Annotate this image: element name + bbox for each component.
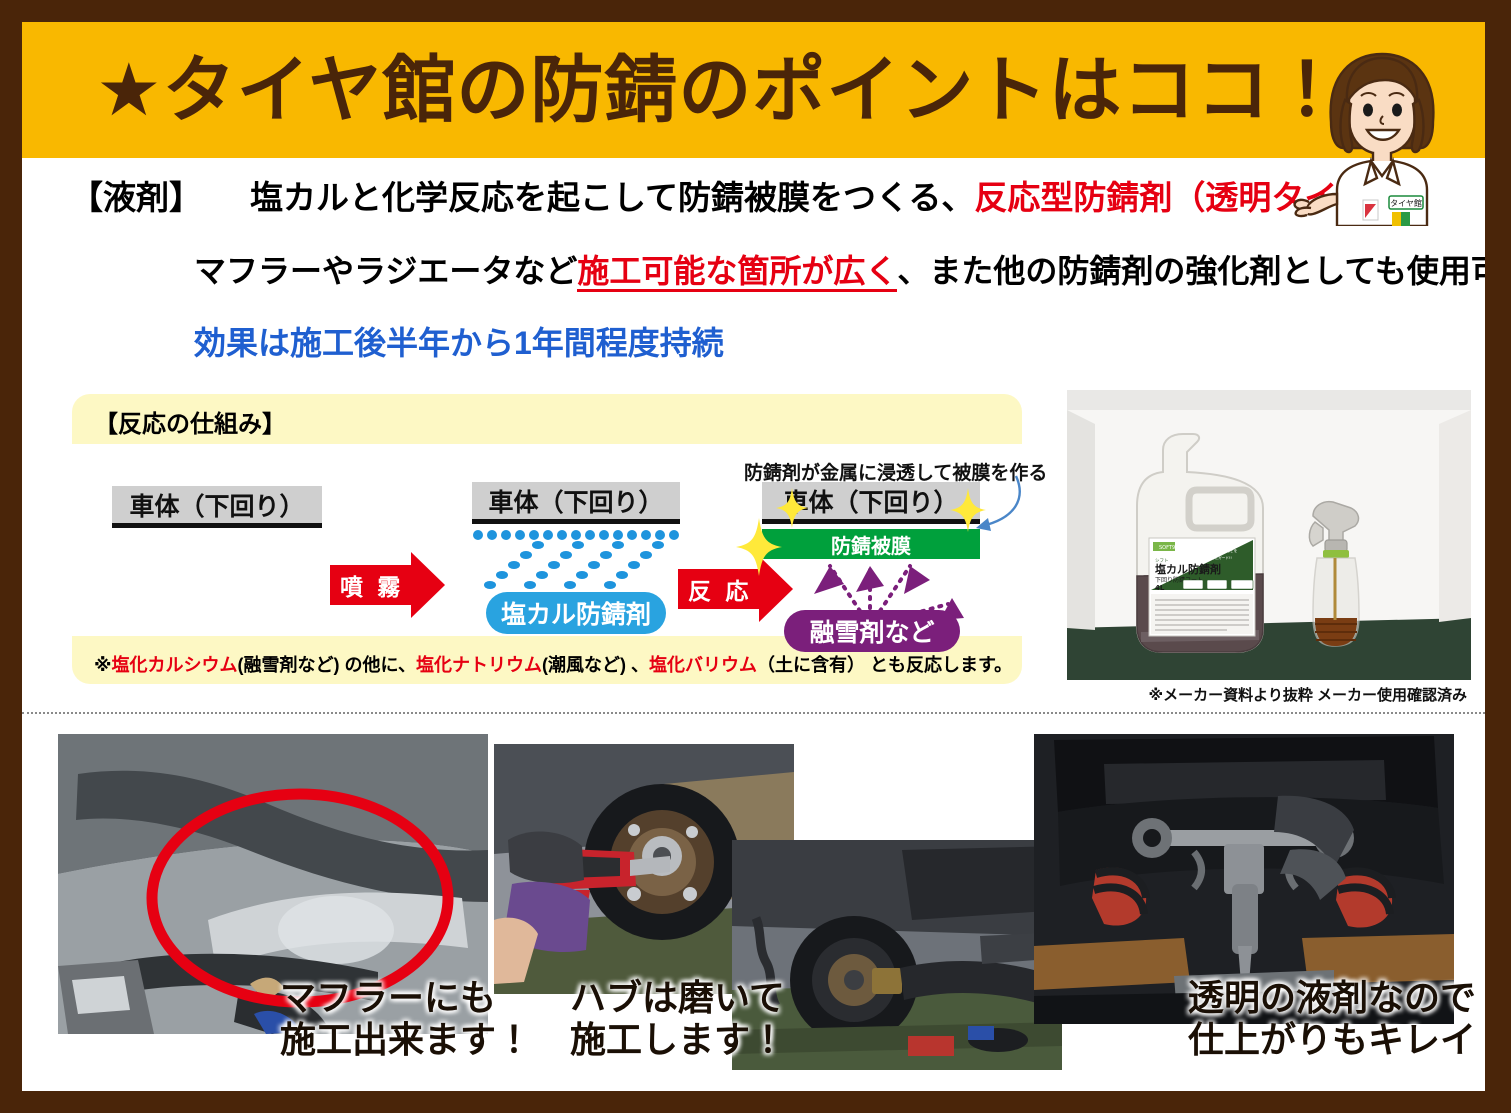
- work-photo-gallery: マフラーにも 施工出来ます！ ハブは磨いて 施工します！ 透明の液剤なので 仕上…: [22, 722, 1485, 1091]
- footnote-chem-1: 塩化カルシウム: [112, 655, 238, 675]
- spray-arrow-head-icon: [411, 552, 445, 618]
- footnote-suffix: （土に含有） とも反応します。: [757, 655, 1012, 675]
- caption-line-1: ハブは磨いて: [570, 978, 786, 1020]
- penetration-caption: 防錆剤が金属に浸透して被膜を作る: [744, 458, 1047, 485]
- copy-line-1-black: 塩カルと化学反応を起こして防錆被膜をつくる、: [250, 179, 974, 216]
- copy-line-3: 効果は施工後半年から1年間程度持続: [194, 326, 724, 361]
- caption-line-1: 透明の液剤なので: [1188, 978, 1485, 1020]
- mechanism-footnote: ※塩化カルシウム(融雪剤など) の他に、塩化ナトリウム(潮風など) 、塩化バリウ…: [94, 651, 1012, 677]
- page-title: ★タイヤ館の防錆のポイントはココ！★: [96, 54, 1411, 127]
- photo-caption-finish: 透明の液剤なので 仕上がりもキレイ！: [1188, 978, 1485, 1063]
- copy-line-2: マフラーやラジエータなど施工可能な箇所が広く、また他の防錆剤の強化剤としても使用…: [194, 254, 1485, 289]
- svg-text:車体下回り・マフラーなどを: 車体下回り・マフラーなどを: [1193, 548, 1238, 553]
- jug-label-volume: 4L: [1155, 584, 1165, 592]
- caption-line-2: 施工出来ます！: [280, 1020, 532, 1062]
- product-photo: SOFT99 シフト 塩カル防錆剤 下回り防錆コート 4L 車体下回り・マフラー…: [1067, 390, 1471, 680]
- photo-caption-muffler: マフラーにも 施工出来ます！: [280, 978, 532, 1063]
- mascot-badge-text: タイヤ館: [1390, 198, 1422, 208]
- mechanism-diagram-area: 防錆剤が金属に浸透して被膜を作る 車体（下回り） 噴 霧 車体（下回: [72, 444, 1022, 636]
- footnote-prefix: ※: [94, 655, 112, 675]
- reaction-mechanism-panel: 【反応の仕組み】 防錆剤が金属に浸透して被膜を作る 車体（下回り） 噴 霧: [72, 394, 1022, 684]
- anti-rust-agent-pill: 塩カル防錆剤: [486, 592, 666, 634]
- footnote-chem-2: 塩化ナトリウム: [416, 655, 542, 675]
- stage3-body-label: 車体（下回り）: [762, 482, 980, 524]
- title-banner: ★タイヤ館の防錆のポイントはココ！★: [22, 22, 1485, 158]
- liquid-label: 【液剤】: [70, 179, 202, 216]
- svg-text:さびから強力にガード!!: さびから強力にガード!!: [1193, 555, 1232, 560]
- diagram-stage-3: 車体（下回り） 防錆被膜: [762, 482, 980, 674]
- jug-label-title: 塩カル防錆剤: [1155, 562, 1221, 576]
- staff-mascot-illustration: タイヤ館: [1293, 44, 1471, 226]
- poster-frame: ★タイヤ館の防錆のポイントはココ！★ 【液剤】塩カルと化学反応を起こして防錆被膜…: [0, 0, 1511, 1113]
- footnote-mid-1: (融雪剤など) の他に、: [238, 655, 416, 675]
- reaction-arrow-label: 反 応: [678, 569, 759, 609]
- section-divider: [22, 712, 1485, 714]
- caption-line-2: 仕上がりもキレイ！: [1188, 1020, 1485, 1062]
- diagram-stage-1: 車体（下回り）: [112, 486, 322, 678]
- footnote-chem-3: 塩化バリウム: [649, 655, 757, 675]
- photo-caption-hub: ハブは磨いて 施工します！: [570, 978, 786, 1063]
- caption-line-1: マフラーにも: [280, 978, 532, 1020]
- spray-arrow-label: 噴 霧: [330, 565, 411, 605]
- mechanism-heading: 【反応の仕組み】: [94, 404, 286, 439]
- spray-arrow: 噴 霧: [330, 552, 445, 618]
- copy-block: 【液剤】塩カルと化学反応を起こして防錆被膜をつくる、反応型防錆剤（透明タイプ） …: [22, 158, 1485, 368]
- poster-sheet: ★タイヤ館の防錆のポイントはココ！★ 【液剤】塩カルと化学反応を起こして防錆被膜…: [22, 22, 1485, 1091]
- copy-line-2-highlight: 施工可能な箇所が広く: [577, 253, 897, 292]
- diagram-stage-2: 車体（下回り）: [472, 482, 680, 674]
- product-photo-note: ※メーカー資料より抜粋 メーカー使用確認済み: [1149, 684, 1467, 705]
- caption-line-2: 施工します！: [570, 1020, 786, 1062]
- copy-line-2-pre: マフラーやラジエータなど: [194, 253, 577, 289]
- stage2-body-label: 車体（下回り）: [472, 482, 680, 524]
- snow-melting-agent-pill: 融雪剤など: [784, 610, 960, 652]
- copy-line-2-post: 、また他の防錆剤の強化剤としても使用可能: [897, 253, 1485, 289]
- spray-droplets-icon: [472, 529, 680, 593]
- stage1-body-label: 車体（下回り）: [112, 486, 322, 528]
- copy-line-1: 【液剤】塩カルと化学反応を起こして防錆被膜をつくる、反応型防錆剤（透明タイプ）: [70, 180, 1403, 216]
- protective-film-label: 防錆被膜: [762, 529, 980, 559]
- footnote-mid-2: (潮風など) 、: [542, 655, 649, 675]
- svg-text:SOFT99: SOFT99: [1159, 545, 1178, 551]
